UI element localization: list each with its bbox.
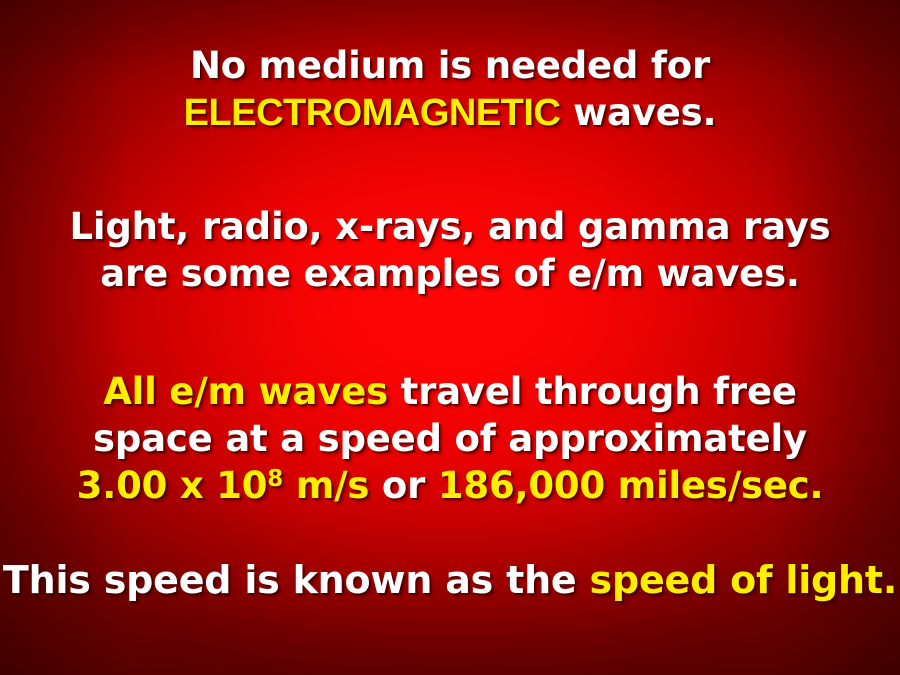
speed-line-1-rest: travel through free [388, 370, 797, 413]
slide-content: No medium is needed for ELECTROMAGNETIC … [0, 0, 900, 675]
examples-line-2: are some examples of e/m waves. [0, 250, 900, 297]
examples-line-2-text: are some examples of e/m waves. [100, 252, 800, 295]
all-em-waves-emphasis: All e/m waves [103, 370, 388, 413]
speed-value-imperial: 186,000 miles/sec. [438, 464, 823, 507]
intro-line-2-rest: waves. [560, 91, 716, 134]
intro-line-1-text: No medium is needed for [190, 44, 710, 87]
speed-value-conjunction: or [369, 464, 438, 507]
paragraph-speed: All e/m waves travel through free space … [0, 368, 900, 509]
intro-line-1: No medium is needed for [0, 42, 900, 89]
slide-canvas: No medium is needed for ELECTROMAGNETIC … [0, 0, 900, 675]
conclusion-period: . [883, 558, 897, 602]
conclusion-line-1: This speed is known as the speed of ligh… [0, 556, 900, 604]
paragraph-examples: Light, radio, x-rays, and gamma rays are… [0, 203, 900, 297]
speed-line-2-text: space at a speed of approximately [93, 417, 807, 460]
paragraph-intro: No medium is needed for ELECTROMAGNETIC … [0, 42, 900, 137]
examples-line-1-text: Light, radio, x-rays, and gamma rays [70, 205, 831, 248]
paragraph-conclusion: This speed is known as the speed of ligh… [0, 556, 900, 604]
examples-line-1: Light, radio, x-rays, and gamma rays [0, 203, 900, 250]
speed-value-exponent: 8 [267, 466, 283, 492]
speed-line-1: All e/m waves travel through free [0, 368, 900, 415]
intro-line-2: ELECTROMAGNETIC waves. [0, 89, 900, 137]
speed-of-light-emphasis: speed of light [590, 558, 883, 602]
speed-value-metric-mantissa: 3.00 x 10 [77, 464, 268, 507]
electromagnetic-emphasis: ELECTROMAGNETIC [184, 92, 561, 134]
conclusion-prefix: This speed is known as the [3, 558, 590, 602]
speed-line-2: space at a speed of approximately [0, 415, 900, 462]
speed-value-metric-unit: m/s [283, 464, 369, 507]
speed-line-3: 3.00 x 108 m/s or 186,000 miles/sec. [0, 462, 900, 509]
